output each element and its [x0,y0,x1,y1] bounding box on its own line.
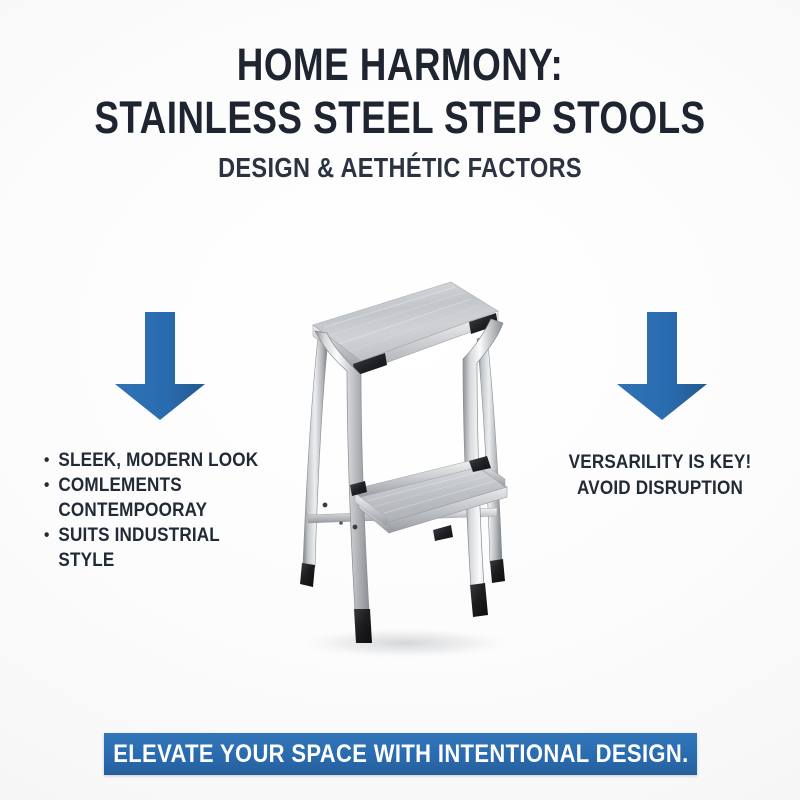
page-title-line-2: STAINLESS STEEL STEP STOOLS [72,95,728,140]
arrow-down-icon-right [614,310,710,422]
list-item: SLEEK, MODERN LOOK [44,448,280,473]
arrow-down-icon-left [112,310,208,422]
bottom-banner-text: ELEVATE YOUR SPACE WITH INTENTIONAL DESI… [113,740,688,769]
left-benefits-list: SLEEK, MODERN LOOK COMLEMENTS CONTEMPOOR… [44,448,306,573]
infographic-poster: HOME HARMONY: STAINLESS STEEL STEP STOOL… [0,0,800,800]
right-callout-line-2: AVOID DISRUPTION [550,476,770,502]
bottom-banner: ELEVATE YOUR SPACE WITH INTENTIONAL DESI… [104,733,697,775]
list-item: SUITS INDUSTRIAL STYLE [44,523,280,573]
list-item: COMLEMENTS CONTEMPOORAY [44,473,280,523]
heading-block: HOME HARMONY: STAINLESS STEEL STEP STOOL… [0,42,800,184]
page-title-line-1: HOME HARMONY: [72,42,728,87]
right-callout-line-1: VERSARILITY IS KEY! [550,450,770,476]
page-subtitle: DESIGN & AETHÉTIC FACTORS [64,152,736,184]
right-callout-text: VERSARILITY IS KEY! AVOID DISRUPTION [538,450,782,502]
